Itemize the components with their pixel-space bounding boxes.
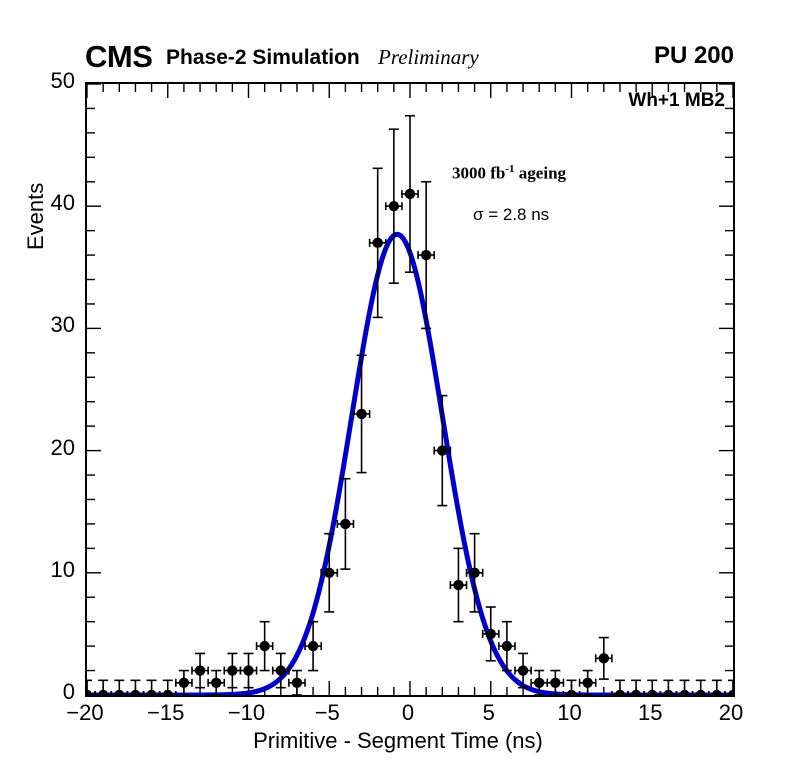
data-marker <box>679 690 689 695</box>
data-marker <box>469 568 479 578</box>
data-marker <box>146 690 156 695</box>
cms-subtitle: Phase-2 Simulation <box>166 47 360 68</box>
y-axis-title-text: Events <box>23 30 49 250</box>
chamber-label: Wh+1 MB2 <box>628 90 725 112</box>
data-point <box>240 653 256 687</box>
x-tick-label: −5 <box>297 700 357 726</box>
data-marker <box>518 665 528 675</box>
data-point <box>208 671 224 695</box>
data-marker <box>163 690 173 695</box>
data-marker <box>179 678 189 688</box>
data-marker <box>599 653 609 663</box>
annotation-ageing-suffix: ageing <box>515 164 566 183</box>
data-point <box>596 638 612 680</box>
annotation-ageing-exponent: -1 <box>505 163 514 175</box>
x-tick-label: 15 <box>620 700 680 726</box>
data-marker <box>728 690 733 695</box>
data-marker <box>227 665 237 675</box>
data-points-group <box>87 116 733 695</box>
data-point <box>402 116 418 272</box>
chart-svg <box>87 84 733 695</box>
data-marker <box>631 690 641 695</box>
y-tick-label: 50 <box>15 68 75 94</box>
data-marker <box>486 629 496 639</box>
data-marker <box>647 690 657 695</box>
data-point <box>467 534 483 612</box>
data-point <box>434 396 450 506</box>
cms-logo: CMS <box>85 41 152 72</box>
data-marker <box>712 690 722 695</box>
y-tick-label: 30 <box>15 312 75 338</box>
data-marker <box>550 678 560 688</box>
data-marker <box>566 690 576 695</box>
data-marker <box>308 641 318 651</box>
data-marker <box>453 580 463 590</box>
x-tick-label: 0 <box>378 700 438 726</box>
data-marker <box>292 678 302 688</box>
data-marker <box>243 665 253 675</box>
data-point <box>418 182 434 329</box>
data-marker <box>276 665 286 675</box>
data-marker <box>98 690 108 695</box>
plot-area <box>87 84 733 695</box>
x-tick-label: 5 <box>459 700 519 726</box>
data-marker <box>405 189 415 199</box>
plot-frame: Wh+1 MB2 <box>85 82 735 697</box>
data-marker <box>130 690 140 695</box>
data-marker <box>502 641 512 651</box>
data-point <box>224 653 240 687</box>
plot-header: CMS Phase-2 Simulation Preliminary PU 20… <box>0 0 796 40</box>
data-point <box>289 671 305 695</box>
data-point <box>386 129 402 283</box>
data-point <box>353 355 369 472</box>
y-tick-label: 10 <box>15 557 75 583</box>
annotation-sigma: σ = 2.8 ns <box>473 205 549 225</box>
data-point <box>192 653 208 687</box>
pileup-label: PU 200 <box>654 44 734 68</box>
data-point <box>321 534 337 612</box>
data-marker <box>421 250 431 260</box>
x-tick-label: 10 <box>540 700 600 726</box>
data-marker <box>356 409 366 419</box>
data-marker <box>615 690 625 695</box>
data-marker <box>582 678 592 688</box>
x-tick-label: 20 <box>701 700 761 726</box>
data-marker <box>389 201 399 211</box>
data-point <box>176 671 192 695</box>
data-marker <box>259 641 269 651</box>
x-tick-label: −10 <box>217 700 277 726</box>
x-tick-label: −15 <box>136 700 196 726</box>
data-point <box>450 548 466 621</box>
gaussian-fit-curve <box>87 234 733 695</box>
data-marker <box>437 445 447 455</box>
data-marker <box>663 690 673 695</box>
data-point <box>580 671 596 695</box>
data-marker <box>324 568 334 578</box>
data-marker <box>373 238 383 248</box>
annotation-ageing: 3000 fb-1 ageing <box>452 163 566 184</box>
x-axis-title: Primitive - Segment Time (ns) <box>0 728 796 754</box>
plot-canvas: CMS Phase-2 Simulation Preliminary PU 20… <box>0 0 796 772</box>
data-marker <box>534 678 544 688</box>
y-tick-label: 20 <box>15 435 75 461</box>
data-marker <box>340 519 350 529</box>
y-tick-label: 40 <box>15 190 75 216</box>
data-point <box>257 622 273 671</box>
data-marker <box>87 690 92 695</box>
data-marker <box>195 665 205 675</box>
data-marker <box>696 690 706 695</box>
data-marker <box>114 690 124 695</box>
x-tick-label: −20 <box>55 700 115 726</box>
data-marker <box>211 678 221 688</box>
annotation-ageing-prefix: 3000 fb <box>452 164 505 183</box>
cms-status-preliminary: Preliminary <box>378 47 479 68</box>
